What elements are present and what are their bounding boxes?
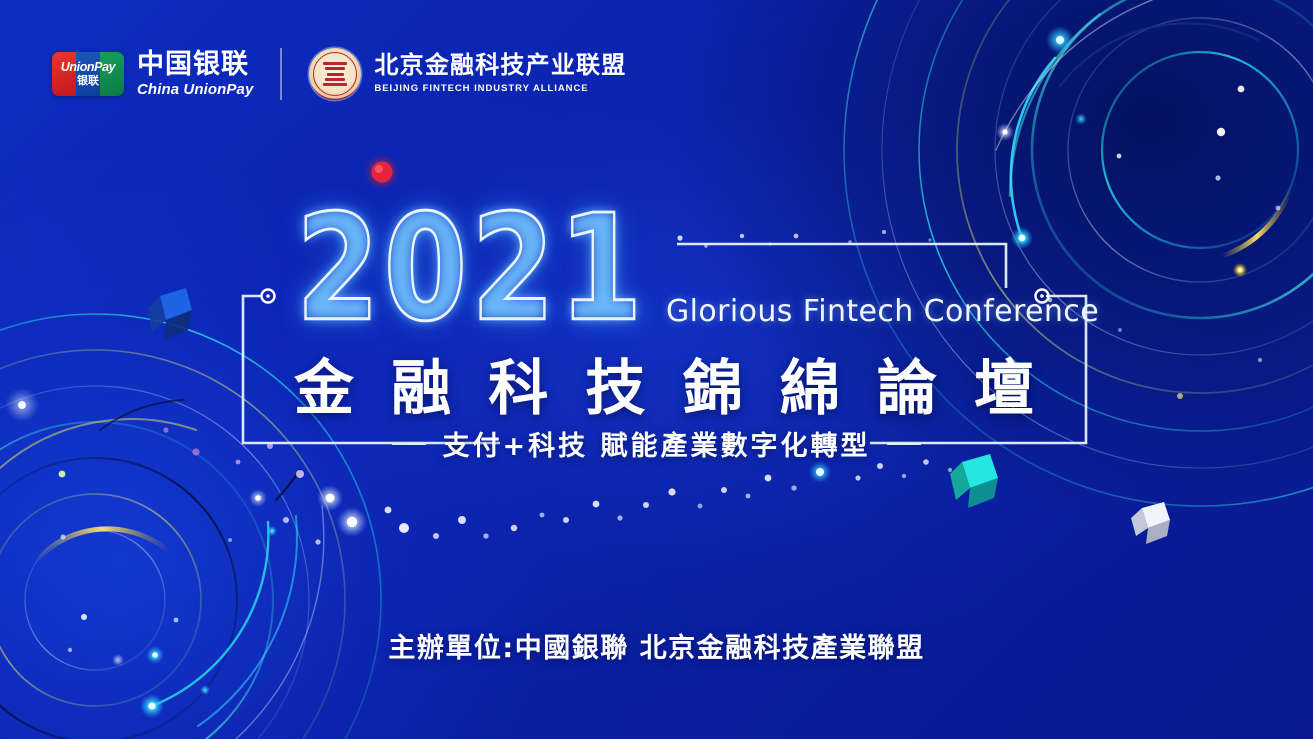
title-char: 壇	[974, 340, 1034, 427]
unionpay-logo: UnionPay 银联 中国银联 China UnionPay	[52, 51, 253, 97]
cube-blue-left	[148, 288, 192, 340]
tagline-dash-right	[887, 443, 921, 445]
title-char: 論	[877, 340, 937, 427]
tagline-row: 支付+科技 賦能產業數字化轉型	[0, 424, 1313, 463]
unionpay-name-en: China UnionPay	[137, 82, 253, 97]
title-char: 綿	[780, 340, 840, 427]
bfia-name-cn: 北京金融科技产业联盟	[374, 54, 626, 78]
bfia-logo: 北京金融科技产业联盟 BEIJING FINTECH INDUSTRY ALLI…	[309, 48, 626, 100]
sponsor-logo-bar: UnionPay 银联 中国银联 China UnionPay 北京金融科技产业…	[52, 48, 626, 100]
year-heading: 2021	[296, 196, 646, 342]
title-char: 科	[488, 340, 548, 427]
cube-white-right	[1131, 502, 1170, 544]
organizer-line: 主辦單位:中國銀聯 北京金融科技產業聯盟	[0, 626, 1313, 665]
title-char: 技	[585, 340, 645, 427]
logo-divider	[280, 48, 282, 100]
unionpay-card-line2: 银联	[77, 76, 99, 87]
title-char: 融	[391, 340, 451, 427]
title-char: 金	[294, 340, 354, 427]
english-subtitle: Glorious Fintech Conference	[666, 294, 1099, 329]
unionpay-card-line1: UnionPay	[61, 61, 115, 74]
unionpay-name-cn: 中国银联	[137, 51, 253, 78]
chinese-title: 金 融 科 技 錦 綿 論 壇	[294, 340, 1034, 427]
conference-banner: UnionPay 银联 中国银联 China UnionPay 北京金融科技产业…	[0, 0, 1313, 739]
title-char: 錦	[683, 340, 743, 427]
tagline-text: 支付+科技 賦能產業數字化轉型	[442, 424, 870, 463]
bfia-seal-icon	[309, 48, 361, 100]
tagline-dash-left	[392, 443, 426, 445]
unionpay-card-icon: UnionPay 银联	[52, 52, 124, 96]
bfia-name-en: BEIJING FINTECH INDUSTRY ALLIANCE	[374, 84, 626, 94]
